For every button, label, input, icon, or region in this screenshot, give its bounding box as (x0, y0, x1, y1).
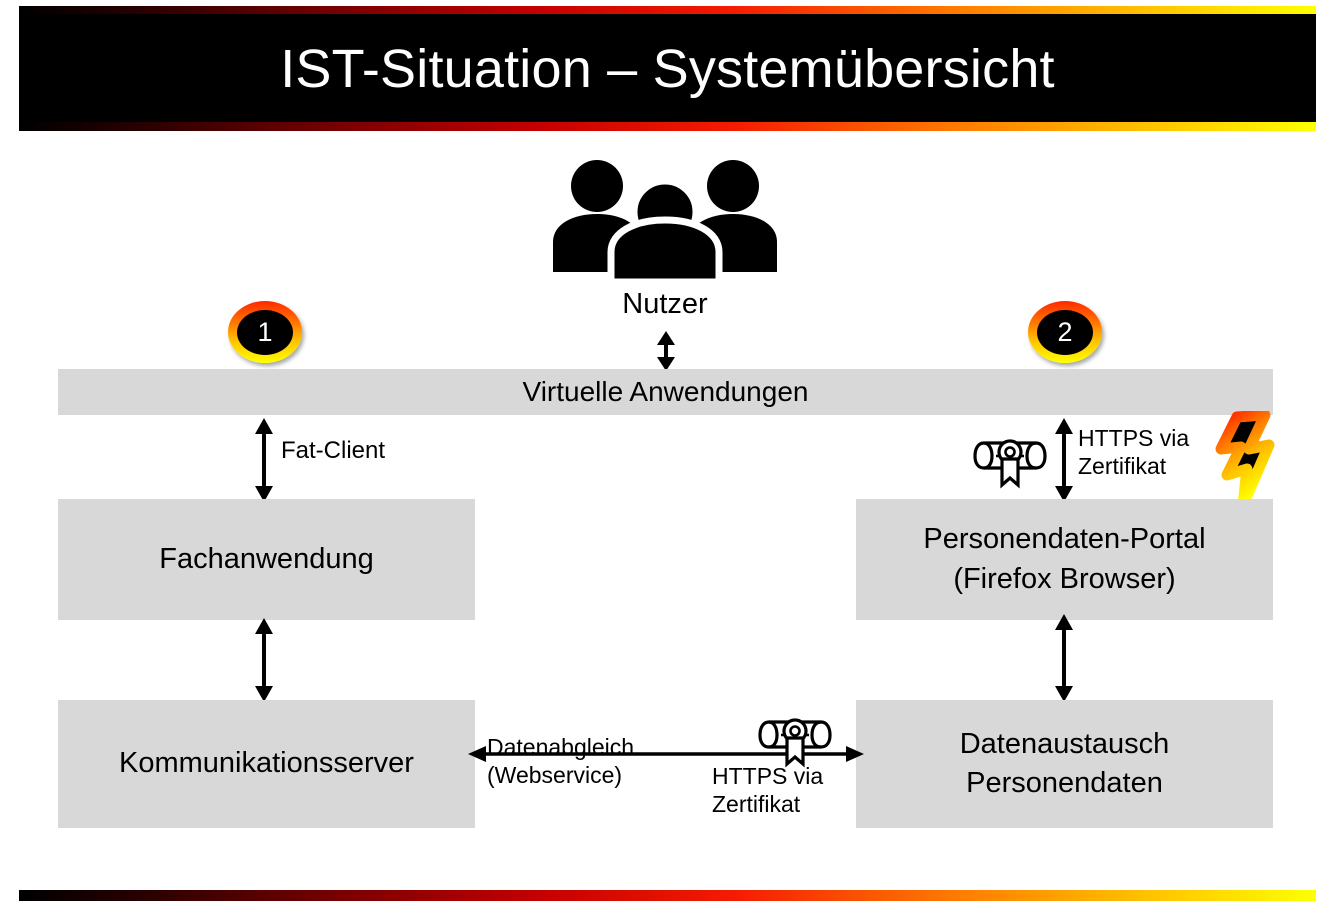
box-datenaustausch-line1: Datenaustausch (960, 725, 1170, 764)
step-badge-2[interactable]: 2 (1028, 301, 1102, 363)
header-gradient-bar-bottom (19, 122, 1316, 131)
box-fachanwendung-label: Fachanwendung (159, 540, 373, 579)
box-personendaten-portal-line2: (Firefox Browser) (953, 560, 1175, 599)
edge-label-datenabgleich-line2: (Webservice) (487, 761, 634, 789)
lightning-bolt-icon (1207, 411, 1291, 511)
box-fachanwendung[interactable]: Fachanwendung (58, 499, 475, 620)
box-datenaustausch-personendaten[interactable]: Datenaustausch Personendaten (856, 700, 1273, 828)
arrow-nutzer-to-virtuelle (648, 331, 684, 371)
box-kommunikationsserver-label: Kommunikationsserver (119, 744, 414, 783)
box-personendaten-portal-line1: Personendaten-Portal (923, 520, 1205, 559)
slide-canvas: IST-Situation – Systemübersicht Nutzer 1… (0, 0, 1335, 914)
box-datenaustausch-line2: Personendaten (966, 764, 1163, 803)
footer-gradient-bar (19, 890, 1316, 901)
edge-label-https-zertifikat-right-line1: HTTPS via (1078, 424, 1189, 452)
step-badge-1-number: 1 (237, 310, 293, 355)
header-plate: IST-Situation – Systemübersicht (19, 14, 1316, 123)
edge-label-https-zertifikat-bottom: HTTPS via Zertifikat (712, 762, 823, 818)
step-badge-1[interactable]: 1 (228, 301, 302, 363)
box-kommunikationsserver[interactable]: Kommunikationsserver (58, 700, 475, 828)
arrow-fachanwendung-to-kommunikationsserver (244, 618, 284, 702)
edge-label-https-zertifikat-bottom-line1: HTTPS via (712, 762, 823, 790)
edge-label-datenabgleich-line1: Datenabgleich (487, 733, 634, 761)
edge-label-https-zertifikat-bottom-line2: Zertifikat (712, 790, 823, 818)
box-personendaten-portal[interactable]: Personendaten-Portal (Firefox Browser) (856, 499, 1273, 620)
edge-label-https-zertifikat-right-line2: Zertifikat (1078, 452, 1189, 480)
certificate-icon (972, 437, 1050, 489)
edge-label-datenabgleich: Datenabgleich (Webservice) (487, 733, 634, 789)
users-group-icon (551, 160, 779, 282)
arrow-portal-to-datenaustausch (1044, 614, 1084, 702)
box-virtuelle-anwendungen[interactable]: Virtuelle Anwendungen (58, 369, 1273, 415)
edge-label-fat-client: Fat-Client (281, 436, 385, 465)
page-title: IST-Situation – Systemübersicht (19, 14, 1316, 123)
step-badge-2-number: 2 (1037, 310, 1093, 355)
box-virtuelle-anwendungen-label: Virtuelle Anwendungen (523, 373, 809, 411)
certificate-icon (757, 716, 835, 768)
users-label: Nutzer (551, 288, 779, 321)
slide-header: IST-Situation – Systemübersicht (19, 6, 1316, 131)
edge-label-https-zertifikat-right: HTTPS via Zertifikat (1078, 424, 1189, 480)
arrow-virtuelle-to-fachanwendung (244, 418, 284, 502)
